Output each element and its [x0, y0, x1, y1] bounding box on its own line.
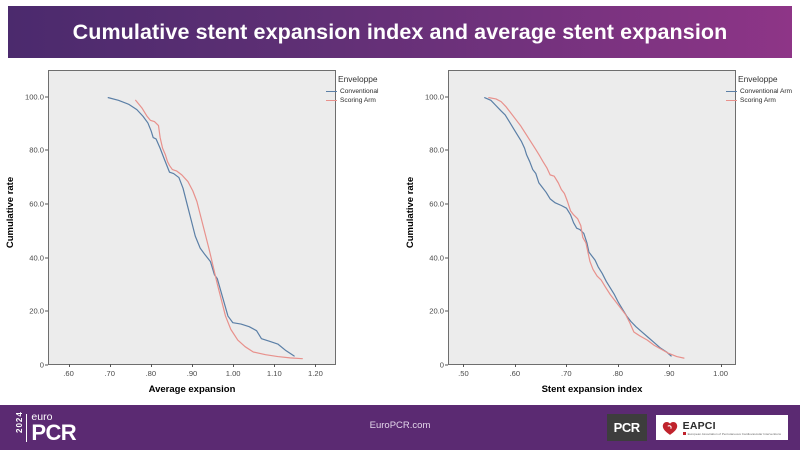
- y-axis-ticks: 100.080.060.040.020.00: [414, 70, 448, 365]
- legend-item-label: Scoring Arm: [340, 97, 376, 104]
- x-axis-label: Stent expansion index: [448, 384, 736, 395]
- y-axis-tick-label: 40.0: [429, 253, 444, 262]
- legend-title: Enveloppe: [326, 74, 400, 84]
- legend-item: Scoring Arm: [726, 96, 800, 105]
- eapci-mark-icon: [683, 432, 686, 435]
- y-axis-tick-label: 60.0: [29, 200, 44, 209]
- x-axis-tick-mark: [566, 364, 567, 367]
- y-axis-tick-label: 80.0: [29, 146, 44, 155]
- x-axis-tick-label: 1.20: [308, 369, 323, 378]
- x-axis-tick-label: 1.00: [713, 369, 728, 378]
- series-line: [485, 98, 671, 356]
- eapci-subtitle-row: European Association of Percutaneous Car…: [683, 432, 781, 436]
- legend-item-label: Conventional Arm: [740, 88, 792, 95]
- slide-footer: 2024 euro PCR EuroPCR.com PCR EAPCI Euro…: [0, 405, 800, 450]
- chart-average-expansion: Cumulative rate 100.080.060.040.020.00 .…: [0, 62, 400, 401]
- x-axis-tick-label: .70: [561, 369, 572, 378]
- pcr-badge: PCR: [607, 414, 647, 441]
- x-axis-tick-label: .60: [510, 369, 521, 378]
- legend-item-label: Scoring Arm: [740, 97, 776, 104]
- legend-item-label: Conventional: [340, 88, 379, 95]
- legend-color-swatch: [726, 100, 737, 102]
- x-axis-ticks: .60.70.80.901.001.101.20: [48, 365, 336, 383]
- x-axis-tick-mark: [669, 364, 670, 367]
- x-axis-tick-label: .90: [187, 369, 198, 378]
- chart-legend: Enveloppe Conventional ArmScoring Arm: [726, 74, 800, 105]
- chart-stent-expansion-index: Cumulative rate 100.080.060.040.020.00 .…: [400, 62, 800, 401]
- x-axis-tick-mark: [192, 364, 193, 367]
- eapci-wordmark: EAPCI European Association of Percutaneo…: [683, 421, 781, 436]
- line-chart-svg: [449, 71, 735, 364]
- slide-content-area: Cumulative rate 100.080.060.040.020.00 .…: [0, 58, 800, 401]
- x-axis-tick-mark: [618, 364, 619, 367]
- y-axis-tick-label: 60.0: [429, 200, 444, 209]
- x-axis-tick-label: .50: [458, 369, 469, 378]
- plot-area: [448, 70, 736, 365]
- x-axis-tick-label: 1.00: [226, 369, 241, 378]
- legend-entries: ConventionalScoring Arm: [326, 87, 400, 105]
- y-axis-tick-label: 20.0: [29, 307, 44, 316]
- series-line: [136, 100, 303, 358]
- y-axis-tick-label: 20.0: [429, 307, 444, 316]
- y-axis-tick-label: 80.0: [429, 146, 444, 155]
- legend-color-swatch: [326, 100, 337, 102]
- plot-area: [48, 70, 336, 365]
- x-axis-tick-label: .70: [104, 369, 115, 378]
- footer-logos: PCR EAPCI European Association of Percut…: [607, 412, 788, 443]
- x-axis-tick-mark: [69, 364, 70, 367]
- x-axis-ticks: .50.60.70.80.901.00: [448, 365, 736, 383]
- eapci-logo: EAPCI European Association of Percutaneo…: [656, 415, 788, 440]
- heart-icon: [661, 419, 679, 437]
- y-axis-tick-label: 100.0: [425, 92, 444, 101]
- x-axis-tick-mark: [110, 364, 111, 367]
- legend-color-swatch: [326, 91, 337, 93]
- legend-entries: Conventional ArmScoring Arm: [726, 87, 800, 105]
- x-axis-tick-mark: [721, 364, 722, 367]
- x-axis-tick-mark: [515, 364, 516, 367]
- eapci-subtitle: European Association of Percutaneous Car…: [688, 432, 781, 436]
- x-axis-label: Average expansion: [48, 384, 336, 395]
- x-axis-tick-label: 1.10: [267, 369, 282, 378]
- y-axis-tick-label: 100.0: [25, 92, 44, 101]
- legend-item: Conventional: [326, 87, 400, 96]
- series-line: [108, 98, 294, 356]
- x-axis-tick-label: .80: [612, 369, 623, 378]
- slide-header-banner: Cumulative stent expansion index and ave…: [8, 6, 792, 58]
- legend-item: Conventional Arm: [726, 87, 800, 96]
- page-title: Cumulative stent expansion index and ave…: [73, 20, 728, 45]
- chart-legend: Enveloppe ConventionalScoring Arm: [326, 74, 400, 105]
- legend-item: Scoring Arm: [326, 96, 400, 105]
- x-axis-tick-mark: [315, 364, 316, 367]
- x-axis-tick-mark: [463, 364, 464, 367]
- legend-color-swatch: [726, 91, 737, 93]
- y-axis-ticks: 100.080.060.040.020.00: [14, 70, 48, 365]
- x-axis-tick-mark: [151, 364, 152, 367]
- line-chart-svg: [49, 71, 335, 364]
- y-axis-tick-label: 0: [40, 361, 44, 370]
- legend-title: Enveloppe: [726, 74, 800, 84]
- x-axis-tick-mark: [274, 364, 275, 367]
- y-axis-tick-label: 40.0: [29, 253, 44, 262]
- x-axis-tick-label: .90: [664, 369, 675, 378]
- eapci-name: EAPCI: [683, 421, 781, 432]
- x-axis-tick-label: .60: [63, 369, 74, 378]
- y-axis-tick-label: 0: [440, 361, 444, 370]
- x-axis-tick-label: .80: [146, 369, 157, 378]
- x-axis-tick-mark: [233, 364, 234, 367]
